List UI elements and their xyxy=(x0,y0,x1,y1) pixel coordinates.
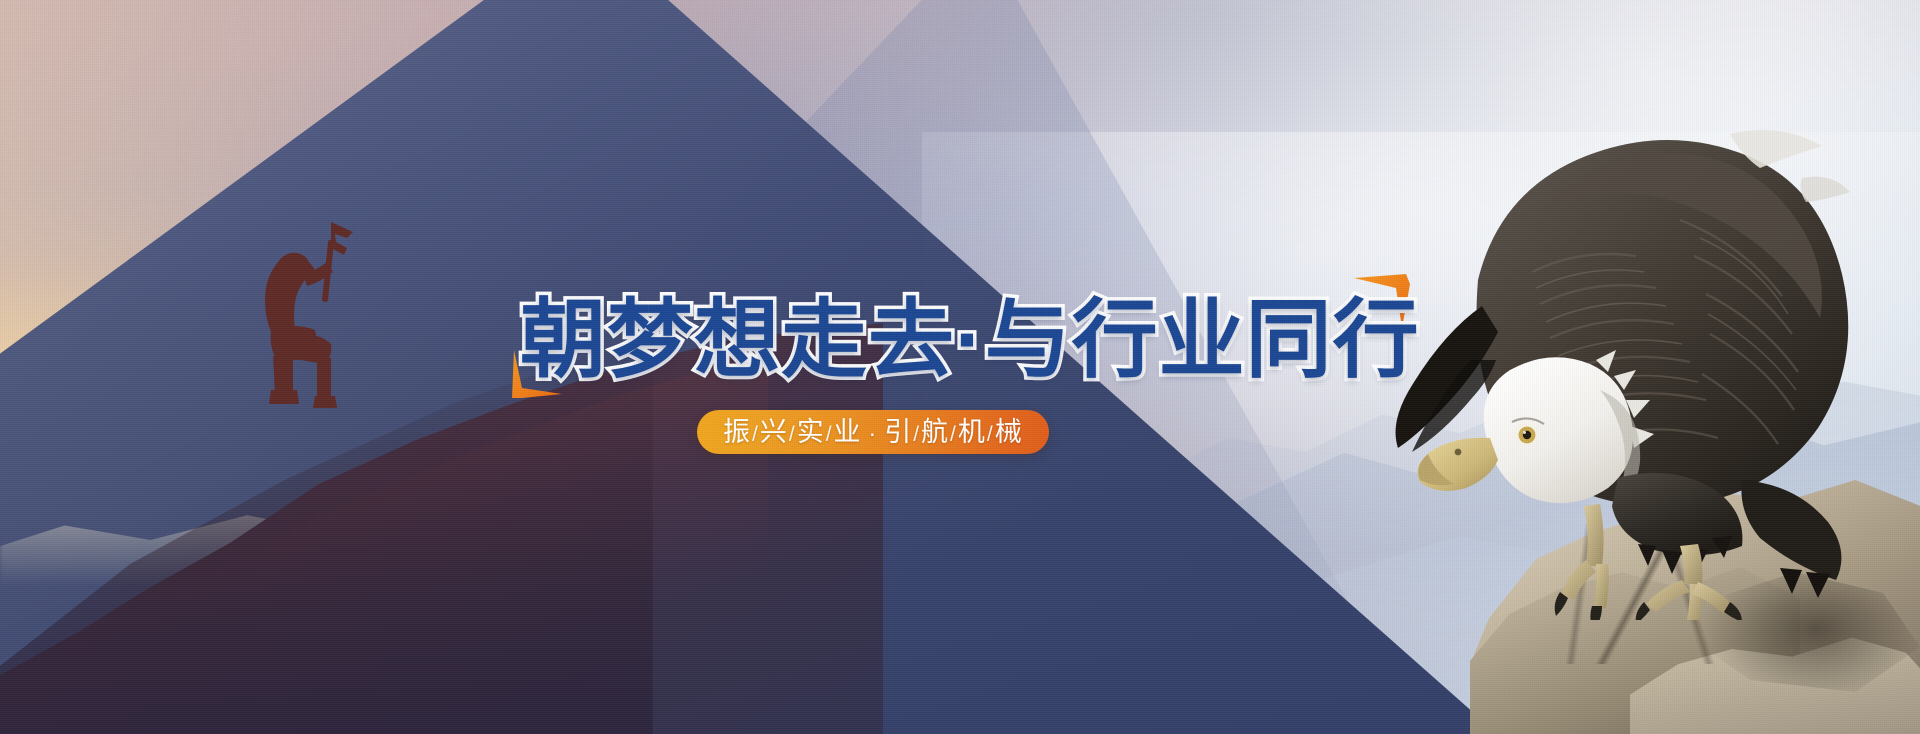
badge-seg-7: 机 xyxy=(958,417,986,447)
badge-sep: / xyxy=(949,423,958,446)
badge-middle-dot: · xyxy=(862,420,885,446)
badge-seg-4: 业 xyxy=(834,417,862,447)
badge-sep: / xyxy=(751,423,760,446)
badge-seg-5: 引 xyxy=(884,417,912,447)
badge-seg-1: 振 xyxy=(723,417,751,447)
page-title: 朝梦想走去·与行业同行 xyxy=(520,297,1420,383)
badge-sep: / xyxy=(912,423,921,446)
badge-seg-6: 航 xyxy=(921,417,949,447)
badge-text: 振/兴/实/业·引/航/机/械 xyxy=(723,419,1023,446)
headline-container: 朝梦想走去·与行业同行 xyxy=(520,292,1420,388)
badge-sep: / xyxy=(788,423,797,446)
badge-seg-8: 械 xyxy=(995,417,1023,447)
badge-seg-3: 实 xyxy=(797,417,825,447)
status-badge: 振/兴/实/业·引/航/机/械 xyxy=(697,410,1049,454)
hero-banner: 朝梦想走去·与行业同行 振/兴/实/业·引/航/机/械 xyxy=(0,0,1920,734)
mountain-climber-silhouette-icon xyxy=(235,218,385,418)
badge-sep: / xyxy=(825,423,834,446)
bald-eagle-icon xyxy=(1350,60,1910,620)
badge-sep: / xyxy=(986,423,995,446)
badge-seg-2: 兴 xyxy=(760,417,788,447)
